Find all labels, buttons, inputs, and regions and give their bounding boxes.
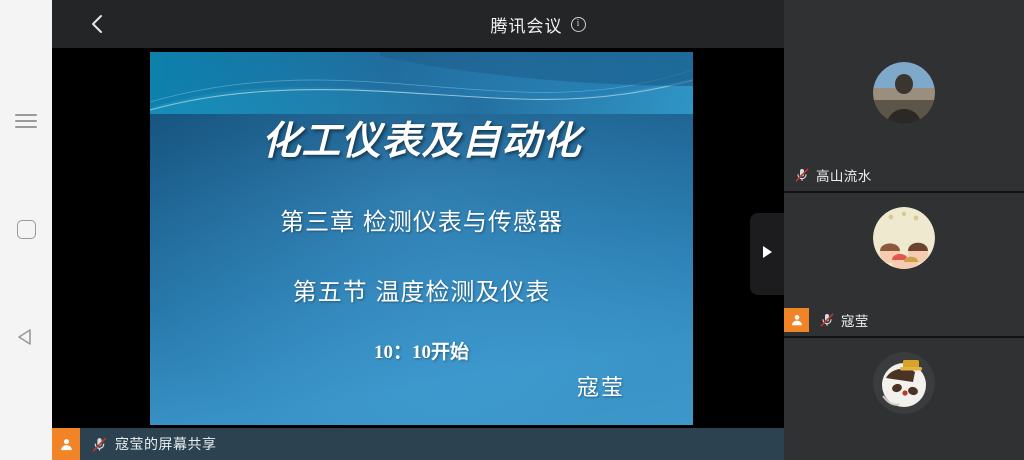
mic-muted-icon [794, 167, 810, 183]
participant-tile[interactable]: 寇莹 [784, 193, 1024, 338]
collapse-panel-tab[interactable] [750, 213, 784, 295]
back-chevron-icon[interactable] [86, 12, 110, 36]
mic-muted-icon [91, 436, 108, 453]
avatar [873, 62, 935, 124]
recent-apps-icon [15, 114, 37, 128]
screen-root: 腾讯会议 i [0, 0, 1024, 460]
avatar [873, 352, 935, 414]
info-icon[interactable]: i [571, 17, 586, 32]
slide-start-time: 10：10开始 [150, 337, 693, 364]
page-title: 腾讯会议 [491, 12, 563, 37]
share-status-label: 寇莹的屏幕共享 [115, 434, 217, 454]
host-person-icon [52, 428, 80, 460]
slide-text-block: 化工仪表及自动化 第三章 检测仪表与传感器 第五节 温度检测及仪表 10：10开… [150, 52, 693, 425]
participants-panel: 高山流水 [784, 0, 1024, 460]
share-status-bar: 寇莹的屏幕共享 [52, 428, 784, 460]
participant-footer: 高山流水 [784, 163, 1024, 187]
presentation-slide: 化工仪表及自动化 第三章 检测仪表与传感器 第五节 温度检测及仪表 10：10开… [150, 52, 693, 425]
home-button[interactable] [0, 212, 52, 246]
android-nav-rail [0, 0, 52, 460]
app-window: 腾讯会议 i [52, 0, 1024, 460]
back-button[interactable] [0, 322, 52, 356]
slide-presenter: 寇莹 [577, 370, 625, 402]
slide-section: 第五节 温度检测及仪表 [150, 272, 693, 307]
participant-name: 寇莹 [841, 310, 869, 330]
slide-title: 化工仪表及自动化 [150, 110, 693, 166]
home-square-icon [17, 220, 36, 239]
avatar [873, 207, 935, 269]
participant-tile[interactable]: 高山流水 [784, 48, 1024, 193]
participant-tile[interactable]: 042张希越 [784, 338, 1024, 460]
slide-chapter: 第三章 检测仪表与传感器 [150, 202, 693, 237]
recent-apps-button[interactable] [0, 104, 52, 138]
host-person-icon [784, 308, 809, 332]
participant-name: 高山流水 [816, 165, 872, 185]
shared-screen-stage[interactable]: 化工仪表及自动化 第三章 检测仪表与传感器 第五节 温度检测及仪表 10：10开… [52, 48, 784, 460]
back-triangle-icon [16, 327, 36, 352]
mic-muted-icon [819, 312, 835, 328]
triangle-right-icon [759, 243, 775, 266]
participant-footer: 寇莹 [784, 308, 1024, 332]
